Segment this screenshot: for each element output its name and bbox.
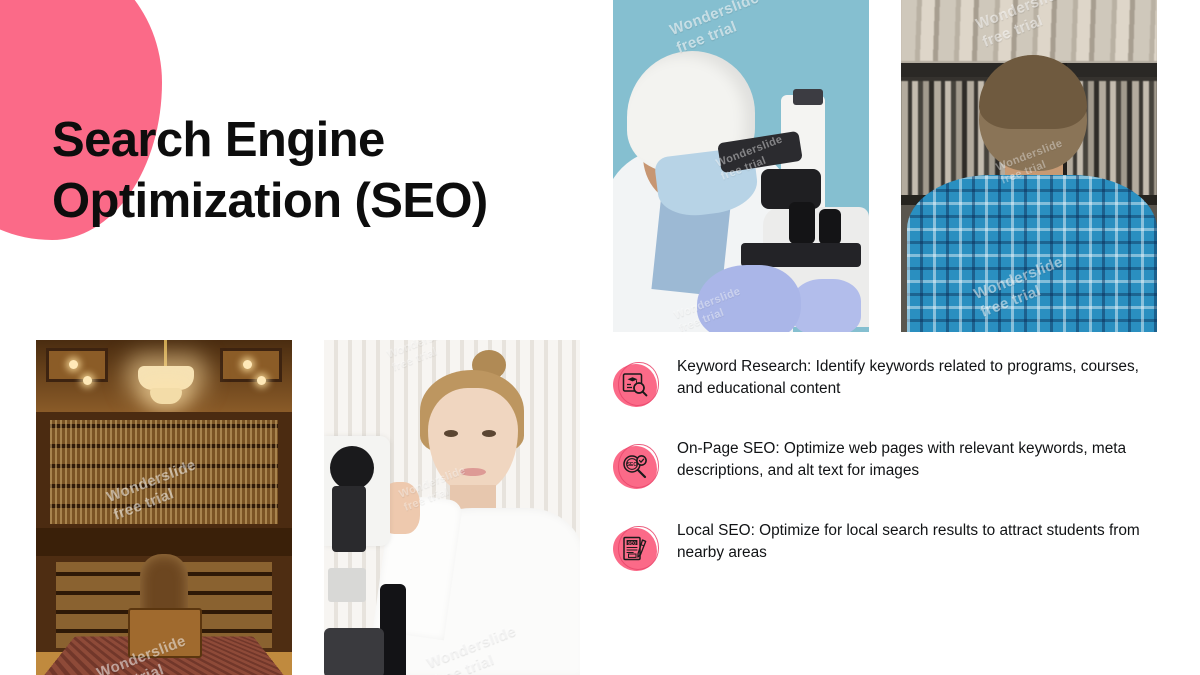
scientist-microscope-photo: Wonderslidefree trial Wonderslidefree tr… [613,0,869,332]
watermark: Wonderslidefree trial [667,0,768,58]
list-item[interactable]: SEO On-Page SEO: Optimize web pages with… [613,438,1147,491]
list-item[interactable]: Keyword Research: Identify keywords rela… [613,356,1147,409]
svg-text:SEO: SEO [627,462,638,468]
local-seo-icon: SEO [613,526,660,573]
on-page-seo-icon: SEO [613,444,660,491]
library-interior-photo: Wonderslidefree trial Wonderslidefree tr… [36,340,292,675]
title-line-1: Search Engine [52,110,612,171]
slide-canvas: Search Engine Optimization (SEO) Wonders… [0,0,1200,675]
man-archive-shelves-photo: Wonderslidefree trial Wonderslidefree tr… [901,0,1157,332]
page-title: Search Engine Optimization (SEO) [52,110,612,232]
list-item-text: On-Page SEO: Optimize web pages with rel… [677,438,1147,482]
list-item-text: Local SEO: Optimize for local search res… [677,520,1147,564]
optometrist-equipment-photo: Wonderslidefree trial Wonderslidefree tr… [324,340,580,675]
title-line-2: Optimization (SEO) [52,171,612,232]
svg-text:SEO: SEO [628,540,638,545]
list-item[interactable]: SEO Local SEO: Optimize for local search… [613,520,1147,573]
keyword-research-icon [613,362,660,409]
list-item-text: Keyword Research: Identify keywords rela… [677,356,1147,400]
